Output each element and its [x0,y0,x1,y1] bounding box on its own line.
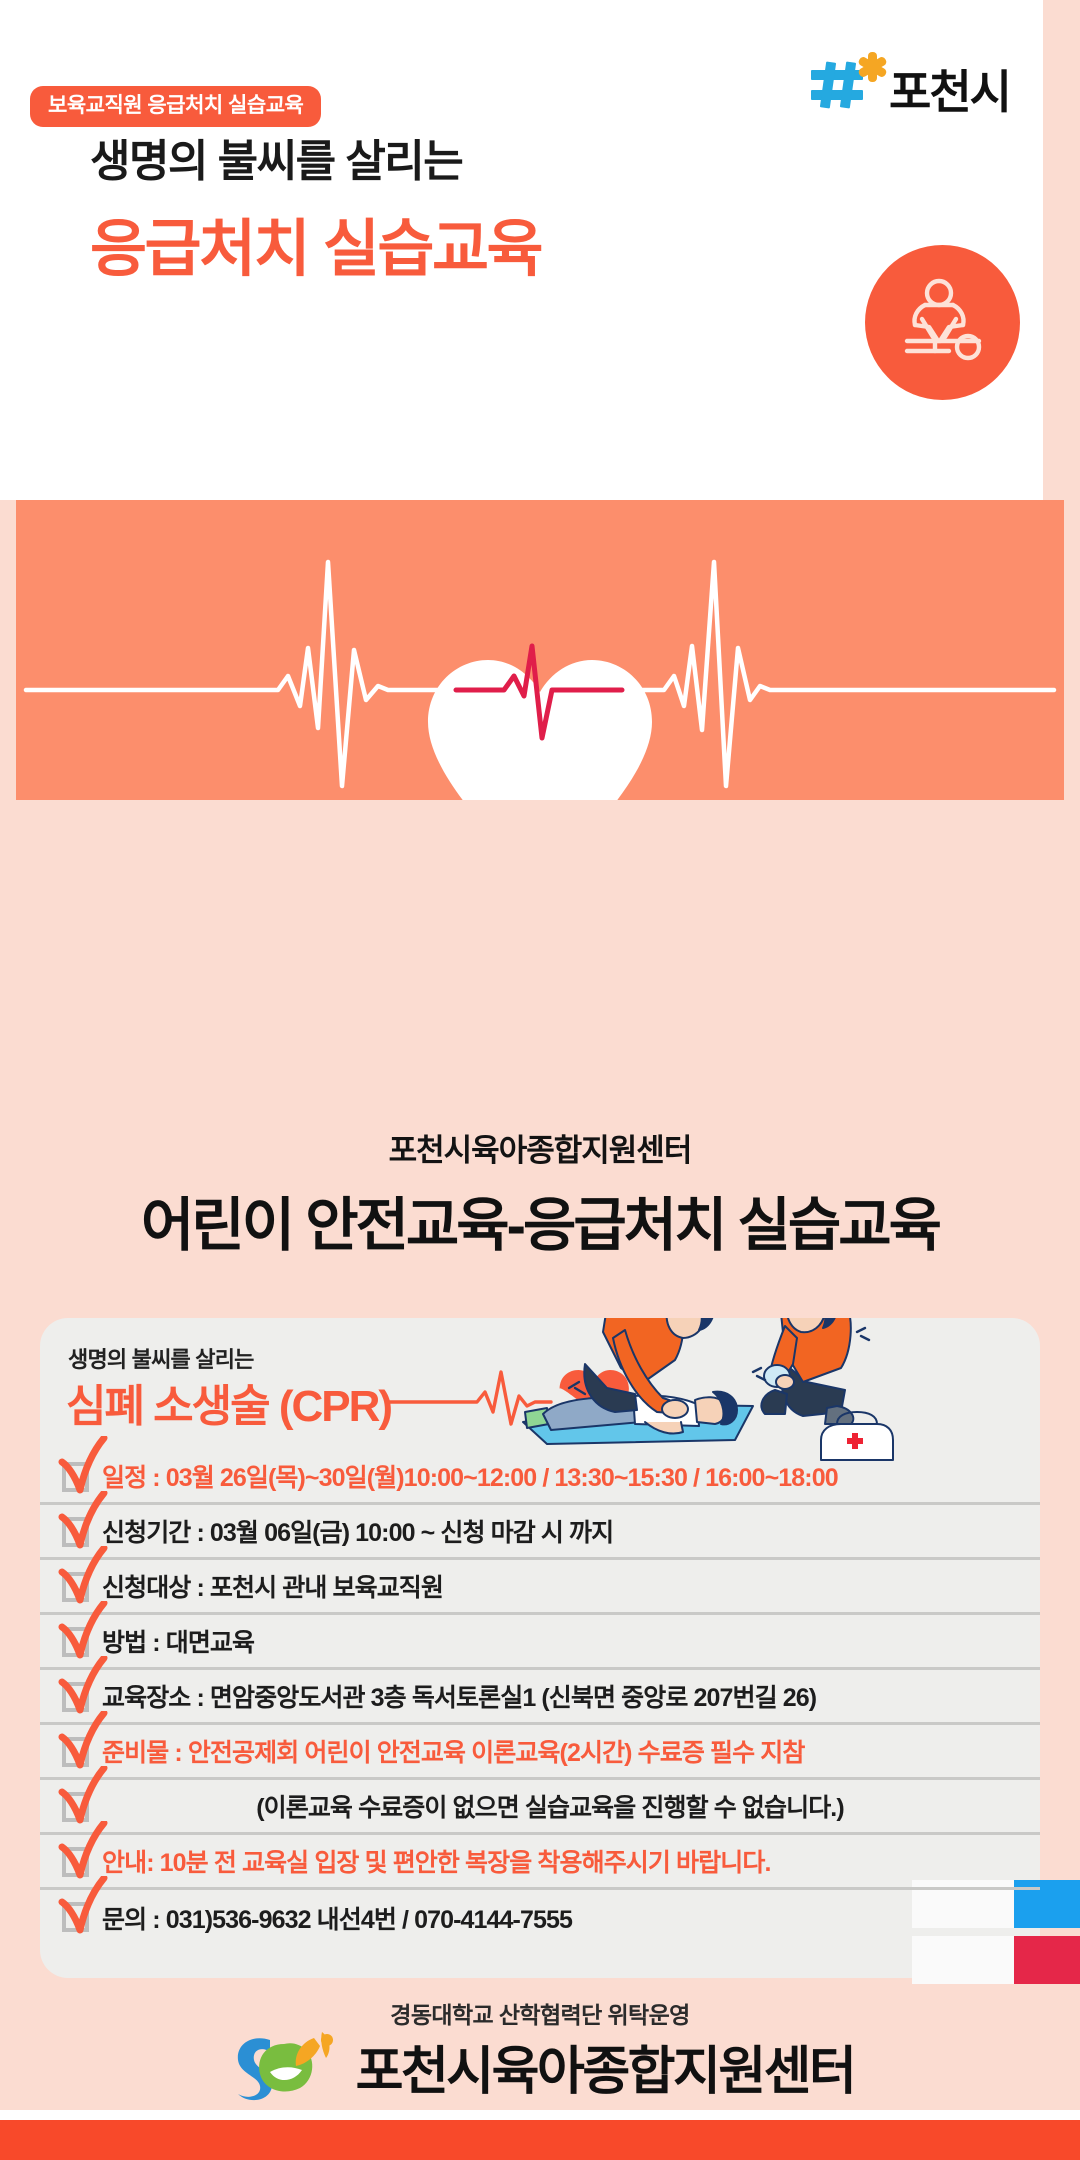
checkbox-outline [62,1847,89,1877]
operator-text: 경동대학교 산학협력단 위탁운영 [0,1996,1080,2030]
info-row: 일정 : 03월 26일(목)~30일(월)10:00~12:00 / 13:3… [40,1450,1040,1505]
center-name-subtitle: 포천시육아종합지원센터 [0,1125,1080,1170]
info-row-text: 안내: 10분 전 교육실 입장 및 편안한 복장을 착용해주시기 바랍니다. [102,1843,771,1879]
info-row: 신청기간 : 03월 06일(금) 10:00 ~ 신청 마감 시 까지 [40,1505,1040,1560]
info-row: 신청대상 : 포천시 관내 보육교직원 [40,1560,1040,1615]
poster-root: 보육교직원 응급처치 실습교육 생명의 불씨를 살리는 응급처치 실습교육 [0,0,1080,2160]
info-row-text: 문의 : 031)536-9632 내선4번 / 070-4144-7555 [102,1900,572,1936]
info-row: 교육장소 : 면암중앙도서관 3층 독서토론실1 (신북면 중앙로 207번길 … [40,1670,1040,1725]
checkbox-outline [62,1572,89,1602]
info-row-text: 교육장소 : 면암중앙도서관 3층 독서토론실1 (신북면 중앙로 207번길 … [102,1678,816,1714]
ecg-heartbeat-icon [16,500,1064,800]
footer-logo-row: 포천시육아종합지원센터 [0,2028,1080,2104]
footer-center-name: 포천시육아종합지원센터 [356,2029,855,2104]
info-row-text: 일정 : 03월 26일(목)~30일(월)10:00~12:00 / 13:3… [102,1458,838,1494]
ecg-banner [16,500,1064,800]
info-row-text: (이론교육 수료증이 없으면 실습교육을 진행할 수 없습니다.) [256,1788,844,1824]
svg-text:포천시: 포천시 [889,66,1010,118]
info-row: 준비물 : 안전공제회 어린이 안전교육 이론교육(2시간) 수료증 필수 지참 [40,1725,1040,1780]
checkbox-outline [62,1462,89,1492]
poster-header: 보육교직원 응급처치 실습교육 생명의 불씨를 살리는 응급처치 실습교육 [0,0,1080,500]
info-row-text: 준비물 : 안전공제회 어린이 안전교육 이론교육(2시간) 수료증 필수 지참 [102,1733,804,1769]
header-title: 응급처치 실습교육 [90,198,541,288]
info-row-text: 신청기간 : 03월 06일(금) 10:00 ~ 신청 마감 시 까지 [102,1513,613,1549]
pocheon-city-logo: 포천시 [807,50,1022,120]
category-badge: 보육교직원 응급처치 실습교육 [30,86,321,127]
top-right-pink-strip [1043,0,1080,500]
cpr-person-icon [891,271,995,375]
checkbox-outline [62,1902,89,1932]
info-row: 방법 : 대면교육 [40,1615,1040,1670]
program-title: 어린이 안전교육-응급처치 실습교육 [0,1178,1080,1262]
checkbox-outline [62,1517,89,1547]
info-row-text: 방법 : 대면교육 [102,1623,254,1659]
checkbox-outline [62,1737,89,1767]
card-title: 심폐 소생술 (CPR) [66,1370,391,1434]
banner-right-margin [1064,500,1080,800]
info-row-text: 신청대상 : 포천시 관내 보육교직원 [102,1568,443,1604]
hash-icon [811,62,863,109]
banner-left-margin [0,500,16,800]
cpr-badge-circle [865,245,1020,400]
info-row: (이론교육 수료증이 없으면 실습교육을 진행할 수 없습니다.) [40,1780,1040,1835]
sc-center-logo-icon [226,2028,342,2104]
bottom-accent-bar [0,2120,1080,2160]
info-row-list: 일정 : 03월 26일(목)~30일(월)10:00~12:00 / 13:3… [40,1450,1040,1945]
checkbox-outline [62,1627,89,1657]
checkbox-outline [62,1682,89,1712]
header-subtitle: 생명의 불씨를 살리는 [90,125,462,189]
info-row: 안내: 10분 전 교육실 입장 및 편안한 복장을 착용해주시기 바랍니다. [40,1835,1040,1890]
checkbox-outline [62,1792,89,1822]
info-row: 문의 : 031)536-9632 내선4번 / 070-4144-7555 [40,1890,1040,1945]
